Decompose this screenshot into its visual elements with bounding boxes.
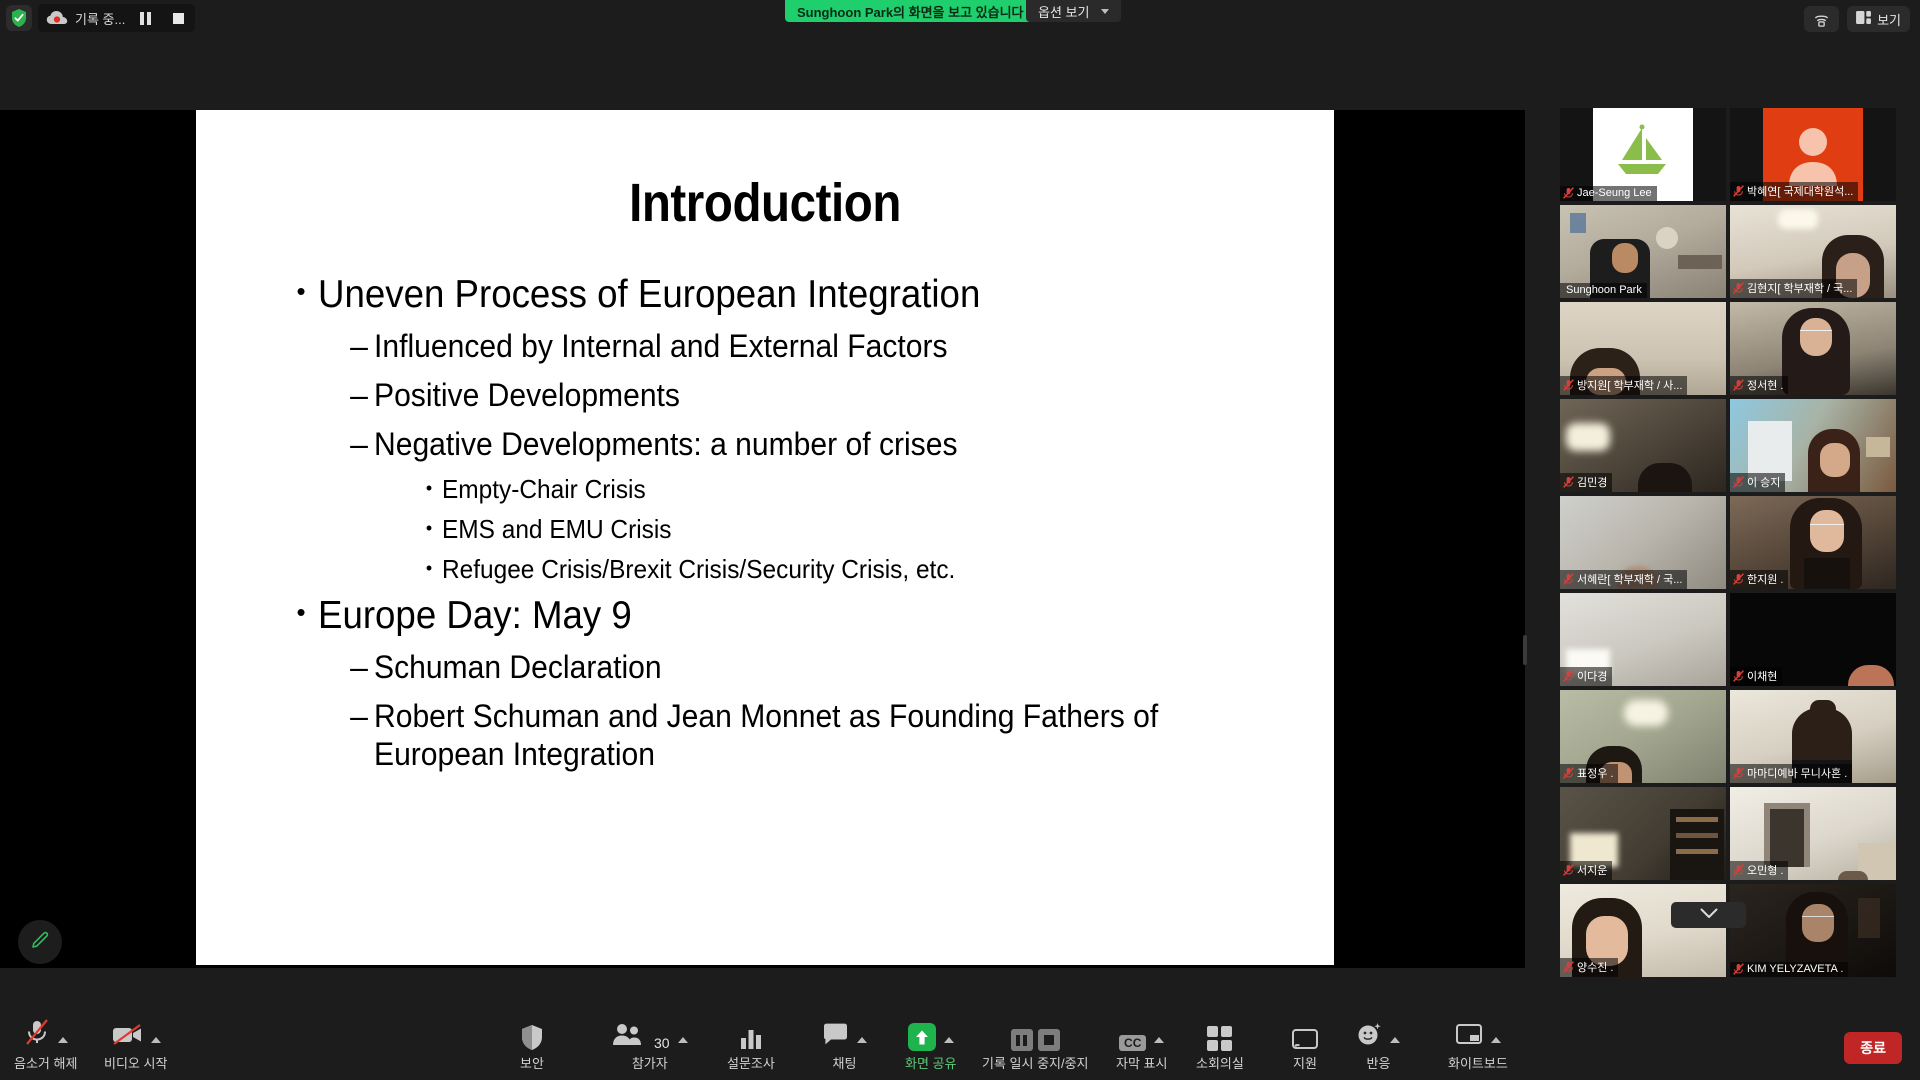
connection-icon[interactable] — [1804, 6, 1839, 32]
chat-icon-group — [822, 1021, 867, 1051]
polls-button[interactable]: 설문조사 — [727, 1021, 775, 1072]
bullet-text: Positive Developments — [374, 377, 680, 415]
annotate-button[interactable] — [18, 920, 62, 964]
whiteboard-icon-group — [1455, 1021, 1501, 1051]
microphone-muted-icon — [1563, 573, 1574, 585]
participant-tile[interactable]: KIM YELYZAVETA . — [1730, 884, 1896, 977]
list-item: –Positive Developments — [344, 377, 1294, 415]
end-meeting-button[interactable]: 종료 — [1844, 1032, 1902, 1064]
participant-name: 표정우 . — [1577, 765, 1613, 781]
slide-bullet-list: •Uneven Process of European Integration … — [196, 272, 1334, 774]
mute-button[interactable]: 음소거 해제 — [14, 1021, 77, 1072]
participant-name-tag: Jae-Seung Lee — [1560, 186, 1657, 201]
participant-name: 마마디예바 무니사혼 . — [1747, 765, 1847, 781]
participant-name: 박혜연[ 국제대학원석... — [1747, 183, 1853, 199]
record-control-label: 기록 일시 중지/중지 — [982, 1053, 1089, 1072]
polls-label: 설문조사 — [727, 1053, 775, 1072]
scroll-down-button[interactable] — [1671, 902, 1746, 928]
microphone-muted-icon — [1563, 476, 1574, 488]
participant-name: 정서현 . — [1747, 377, 1783, 393]
bullet-marker: – — [344, 698, 374, 736]
participant-name: Sunghoon Park — [1566, 284, 1642, 296]
smiley-reaction-icon — [1357, 1022, 1382, 1051]
bullet-marker: – — [344, 649, 374, 687]
bullet-text: Schuman Declaration — [374, 649, 662, 687]
participant-name: 한지원 . — [1747, 571, 1783, 587]
list-item: •Refugee Crisis/Brexit Crisis/Security C… — [416, 554, 1294, 585]
participant-tile[interactable]: 이 승지 — [1730, 399, 1896, 492]
whiteboard-label: 화이트보드 — [1448, 1053, 1508, 1072]
participant-name-tag: 방지원[ 학부재학 / 사... — [1560, 376, 1687, 395]
support-label: 지원 — [1293, 1053, 1317, 1072]
participant-name: 이다경 — [1577, 668, 1607, 684]
security-label: 보안 — [520, 1053, 544, 1072]
security-button[interactable]: 보안 — [512, 1021, 552, 1072]
bullet-marker: • — [284, 593, 318, 632]
participant-name-tag: 서지운 — [1560, 861, 1612, 880]
participant-tile[interactable]: 서지운 — [1560, 787, 1726, 880]
bullet-text: Robert Schuman and Jean Monnet as Foundi… — [374, 698, 1173, 774]
participant-name-tag: Sunghoon Park — [1560, 283, 1647, 298]
bullet-marker: • — [284, 272, 318, 311]
chat-bubble-icon — [822, 1023, 849, 1051]
participant-name-tag: KIM YELYZAVETA . — [1730, 962, 1848, 977]
participant-tile[interactable]: 양수진 . — [1560, 884, 1726, 977]
participant-video-strip: Jae-Seung Lee 박혜연[ 국제대학원석... — [1560, 108, 1912, 988]
participant-name: 김민경 — [1577, 474, 1607, 490]
share-screen-label: 화면 공유 — [905, 1053, 956, 1072]
breakout-rooms-button[interactable]: 소회의실 — [1196, 1021, 1244, 1072]
participant-name-tag: 마마디예바 무니사혼 . — [1730, 764, 1852, 783]
view-button-label: 보기 — [1877, 10, 1901, 29]
video-icon-group — [111, 1021, 161, 1051]
share-screen-up-arrow-icon — [908, 1023, 936, 1051]
microphone-muted-icon — [1733, 379, 1744, 391]
bullet-text: EMS and EMU Crisis — [442, 514, 672, 545]
participant-name: 이 승지 — [1747, 474, 1780, 490]
list-item: •EMS and EMU Crisis — [416, 514, 1294, 545]
participant-name: 김현지[ 학부재학 / 국... — [1747, 280, 1852, 296]
support-button[interactable]: 지원 — [1285, 1021, 1325, 1072]
view-layout-button[interactable]: 보기 — [1847, 6, 1910, 32]
microphone-muted-icon — [1733, 573, 1744, 585]
participant-count: 30 — [654, 1035, 670, 1051]
top-bar: 기록 중... Sunghoon Park의 화면을 보고 있습니다 옵션 보기… — [0, 0, 1920, 38]
bullet-marker: • — [416, 514, 442, 543]
stage-resize-handle[interactable] — [1523, 635, 1527, 665]
pause-recording-icon[interactable] — [1011, 1029, 1033, 1051]
participant-name-tag: 김현지[ 학부재학 / 국... — [1730, 279, 1857, 298]
list-item: •Europe Day: May 9 — [284, 593, 1294, 639]
reactions-caret-icon[interactable] — [1390, 1037, 1400, 1043]
bullet-text: Negative Developments: a number of crise… — [374, 426, 957, 464]
captions-caret-icon[interactable] — [1154, 1037, 1164, 1043]
view-options-label: 옵션 보기 — [1038, 2, 1089, 21]
whiteboard-icon — [1455, 1023, 1483, 1051]
recording-indicator: 기록 중... — [38, 4, 195, 32]
bullet-marker: – — [344, 426, 374, 464]
participant-tile[interactable]: 서혜란[ 학부재학 / 국... — [1560, 496, 1726, 589]
recording-label: 기록 중... — [75, 9, 125, 28]
bullet-text: Empty-Chair Crisis — [442, 474, 646, 505]
bullet-text: Uneven Process of European Integration — [318, 272, 980, 318]
participant-tile[interactable]: 오민형 . — [1730, 787, 1896, 880]
participant-tile[interactable]: 정서현 . — [1730, 302, 1896, 395]
list-item: •Empty-Chair Crisis — [416, 474, 1294, 505]
participant-tile[interactable]: 이채현 — [1730, 593, 1896, 686]
bullet-marker: • — [416, 554, 442, 583]
people-icon — [612, 1022, 642, 1051]
shared-screen-stage: Introduction •Uneven Process of European… — [0, 110, 1525, 968]
mute-options-caret-icon[interactable] — [58, 1037, 68, 1043]
participant-tile[interactable]: 김현지[ 학부재학 / 국... — [1730, 205, 1896, 298]
participant-name-tag: 김민경 — [1560, 473, 1612, 492]
participants-caret-icon[interactable] — [678, 1037, 688, 1043]
captions-button[interactable]: CC 자막 표시 — [1116, 1021, 1167, 1072]
microphone-muted-icon — [1733, 767, 1744, 779]
chevron-down-icon — [1101, 9, 1109, 14]
camera-off-icon — [111, 1022, 143, 1051]
participant-name-tag: 이채현 — [1730, 667, 1782, 686]
participants-icon-group: 30 — [612, 1021, 688, 1051]
participant-name: KIM YELYZAVETA . — [1747, 963, 1843, 975]
list-item: –Schuman Declaration — [344, 649, 1294, 687]
view-options-dropdown[interactable]: 옵션 보기 — [1026, 0, 1121, 22]
reactions-icon-group — [1357, 1021, 1400, 1051]
cloud-record-icon — [46, 9, 68, 27]
list-item: –Influenced by Internal and External Fac… — [344, 328, 1294, 366]
list-item: –Robert Schuman and Jean Monnet as Found… — [344, 698, 1224, 774]
microphone-muted-icon — [1733, 670, 1744, 682]
microphone-muted-icon — [1563, 187, 1574, 199]
participant-name: Jae-Seung Lee — [1577, 187, 1652, 199]
chevron-down-icon — [1700, 906, 1718, 924]
mute-icon-group — [24, 1021, 68, 1051]
pause-recording-button[interactable] — [132, 5, 158, 31]
top-right-controls: 보기 — [1804, 6, 1910, 32]
participant-name-tag: 박혜연[ 국제대학원석... — [1730, 182, 1858, 201]
cc-icon: CC — [1119, 1035, 1146, 1051]
pencil-annotate-icon — [29, 929, 51, 956]
bullet-marker: • — [416, 474, 442, 503]
participant-tile[interactable]: 김민경 — [1560, 399, 1726, 492]
participant-tile[interactable]: 마마디예바 무니사혼 . — [1730, 690, 1896, 783]
microphone-muted-icon — [1733, 476, 1744, 488]
microphone-muted-icon — [1563, 767, 1574, 779]
participant-name: 이채현 — [1747, 668, 1777, 684]
microphone-muted-icon — [1733, 282, 1744, 294]
breakout-rooms-grid-icon — [1207, 1021, 1232, 1051]
participant-name: 오민형 . — [1747, 862, 1783, 878]
participant-name: 서지운 — [1577, 862, 1607, 878]
screen-share-banner: Sunghoon Park의 화면을 보고 있습니다 — [785, 0, 1036, 22]
participant-name-tag: 정서현 . — [1730, 376, 1788, 395]
slide-title: Introduction — [264, 172, 1265, 234]
captions-label: 자막 표시 — [1116, 1053, 1167, 1072]
participant-tile-active-speaker[interactable]: Sunghoon Park — [1560, 205, 1726, 298]
shield-check-icon[interactable] — [6, 5, 32, 31]
participant-name: 서혜란[ 학부재학 / 국... — [1577, 571, 1682, 587]
chat-label: 채팅 — [833, 1053, 857, 1072]
participant-tile[interactable]: 박혜연[ 국제대학원석... — [1730, 108, 1896, 201]
microphone-muted-icon — [24, 1018, 50, 1051]
list-item: •Uneven Process of European Integration — [284, 272, 1294, 318]
mute-label: 음소거 해제 — [14, 1053, 77, 1072]
recording-cluster: 기록 중... — [6, 4, 195, 32]
video-options-caret-icon[interactable] — [151, 1037, 161, 1043]
reactions-label: 반응 — [1367, 1053, 1391, 1072]
chat-button[interactable]: 채팅 — [822, 1021, 867, 1072]
captions-icon-group: CC — [1119, 1021, 1164, 1051]
microphone-muted-icon — [1563, 864, 1574, 876]
participant-name-tag: 표정우 . — [1560, 764, 1618, 783]
share-caret-icon[interactable] — [944, 1037, 954, 1043]
bar-chart-icon — [739, 1021, 763, 1051]
list-item: –Negative Developments: a number of cris… — [344, 426, 1294, 464]
participant-tile[interactable]: 표정우 . — [1560, 690, 1726, 783]
participant-tile[interactable]: 방지원[ 학부재학 / 사... — [1560, 302, 1726, 395]
video-label: 비디오 시작 — [104, 1053, 167, 1072]
whiteboard-button[interactable]: 화이트보드 — [1448, 1021, 1508, 1072]
zoom-meeting-window: 기록 중... Sunghoon Park의 화면을 보고 있습니다 옵션 보기… — [0, 0, 1920, 1080]
microphone-muted-icon — [1563, 670, 1574, 682]
share-icon-group — [908, 1021, 954, 1051]
participant-tile[interactable]: 한지원 . — [1730, 496, 1896, 589]
video-tile-grid: Jae-Seung Lee 박혜연[ 국제대학원석... — [1560, 108, 1912, 977]
support-cast-icon — [1291, 1021, 1319, 1051]
reactions-button[interactable]: 반응 — [1357, 1021, 1400, 1072]
record-control-button[interactable]: 기록 일시 중지/중지 — [982, 1021, 1089, 1072]
participant-name: 방지원[ 학부재학 / 사... — [1577, 377, 1682, 393]
meeting-toolbar: 음소거 해제 비디오 시작 보안 30 — [0, 990, 1920, 1080]
breakout-rooms-label: 소회의실 — [1196, 1053, 1244, 1072]
bullet-text: Europe Day: May 9 — [318, 593, 632, 639]
participant-name-tag: 한지원 . — [1730, 570, 1788, 589]
participants-button[interactable]: 30 참가자 — [612, 1021, 688, 1072]
share-screen-button[interactable]: 화면 공유 — [905, 1021, 956, 1072]
whiteboard-caret-icon[interactable] — [1491, 1037, 1501, 1043]
microphone-muted-icon — [1563, 379, 1574, 391]
microphone-muted-icon — [1733, 185, 1744, 197]
participant-name: 양수진 . — [1577, 959, 1613, 975]
participant-tile[interactable]: Jae-Seung Lee — [1560, 108, 1726, 201]
participant-name-tag: 서혜란[ 학부재학 / 국... — [1560, 570, 1687, 589]
stop-recording-icon[interactable] — [1038, 1029, 1060, 1051]
bullet-marker: – — [344, 328, 374, 366]
bullet-text: Influenced by Internal and External Fact… — [374, 328, 948, 366]
microphone-muted-icon — [1733, 864, 1744, 876]
participant-name-tag: 양수진 . — [1560, 958, 1618, 977]
bullet-text: Refugee Crisis/Brexit Crisis/Security Cr… — [442, 554, 955, 585]
pause-stop-recording-icon — [1011, 1021, 1060, 1051]
bullet-marker: – — [344, 377, 374, 415]
microphone-muted-icon — [1733, 963, 1744, 975]
participant-name-tag: 오민형 . — [1730, 861, 1788, 880]
stop-recording-button[interactable] — [165, 5, 191, 31]
layout-icon — [1856, 11, 1871, 27]
participant-name-tag: 이다경 — [1560, 667, 1612, 686]
chat-caret-icon[interactable] — [857, 1037, 867, 1043]
start-video-button[interactable]: 비디오 시작 — [104, 1021, 167, 1072]
microphone-muted-icon — [1563, 961, 1574, 973]
participant-tile[interactable]: 이다경 — [1560, 593, 1726, 686]
shield-icon — [520, 1021, 544, 1051]
participants-label: 참가자 — [632, 1053, 668, 1072]
presentation-slide: Introduction •Uneven Process of European… — [196, 110, 1334, 965]
participant-name-tag: 이 승지 — [1730, 473, 1785, 492]
